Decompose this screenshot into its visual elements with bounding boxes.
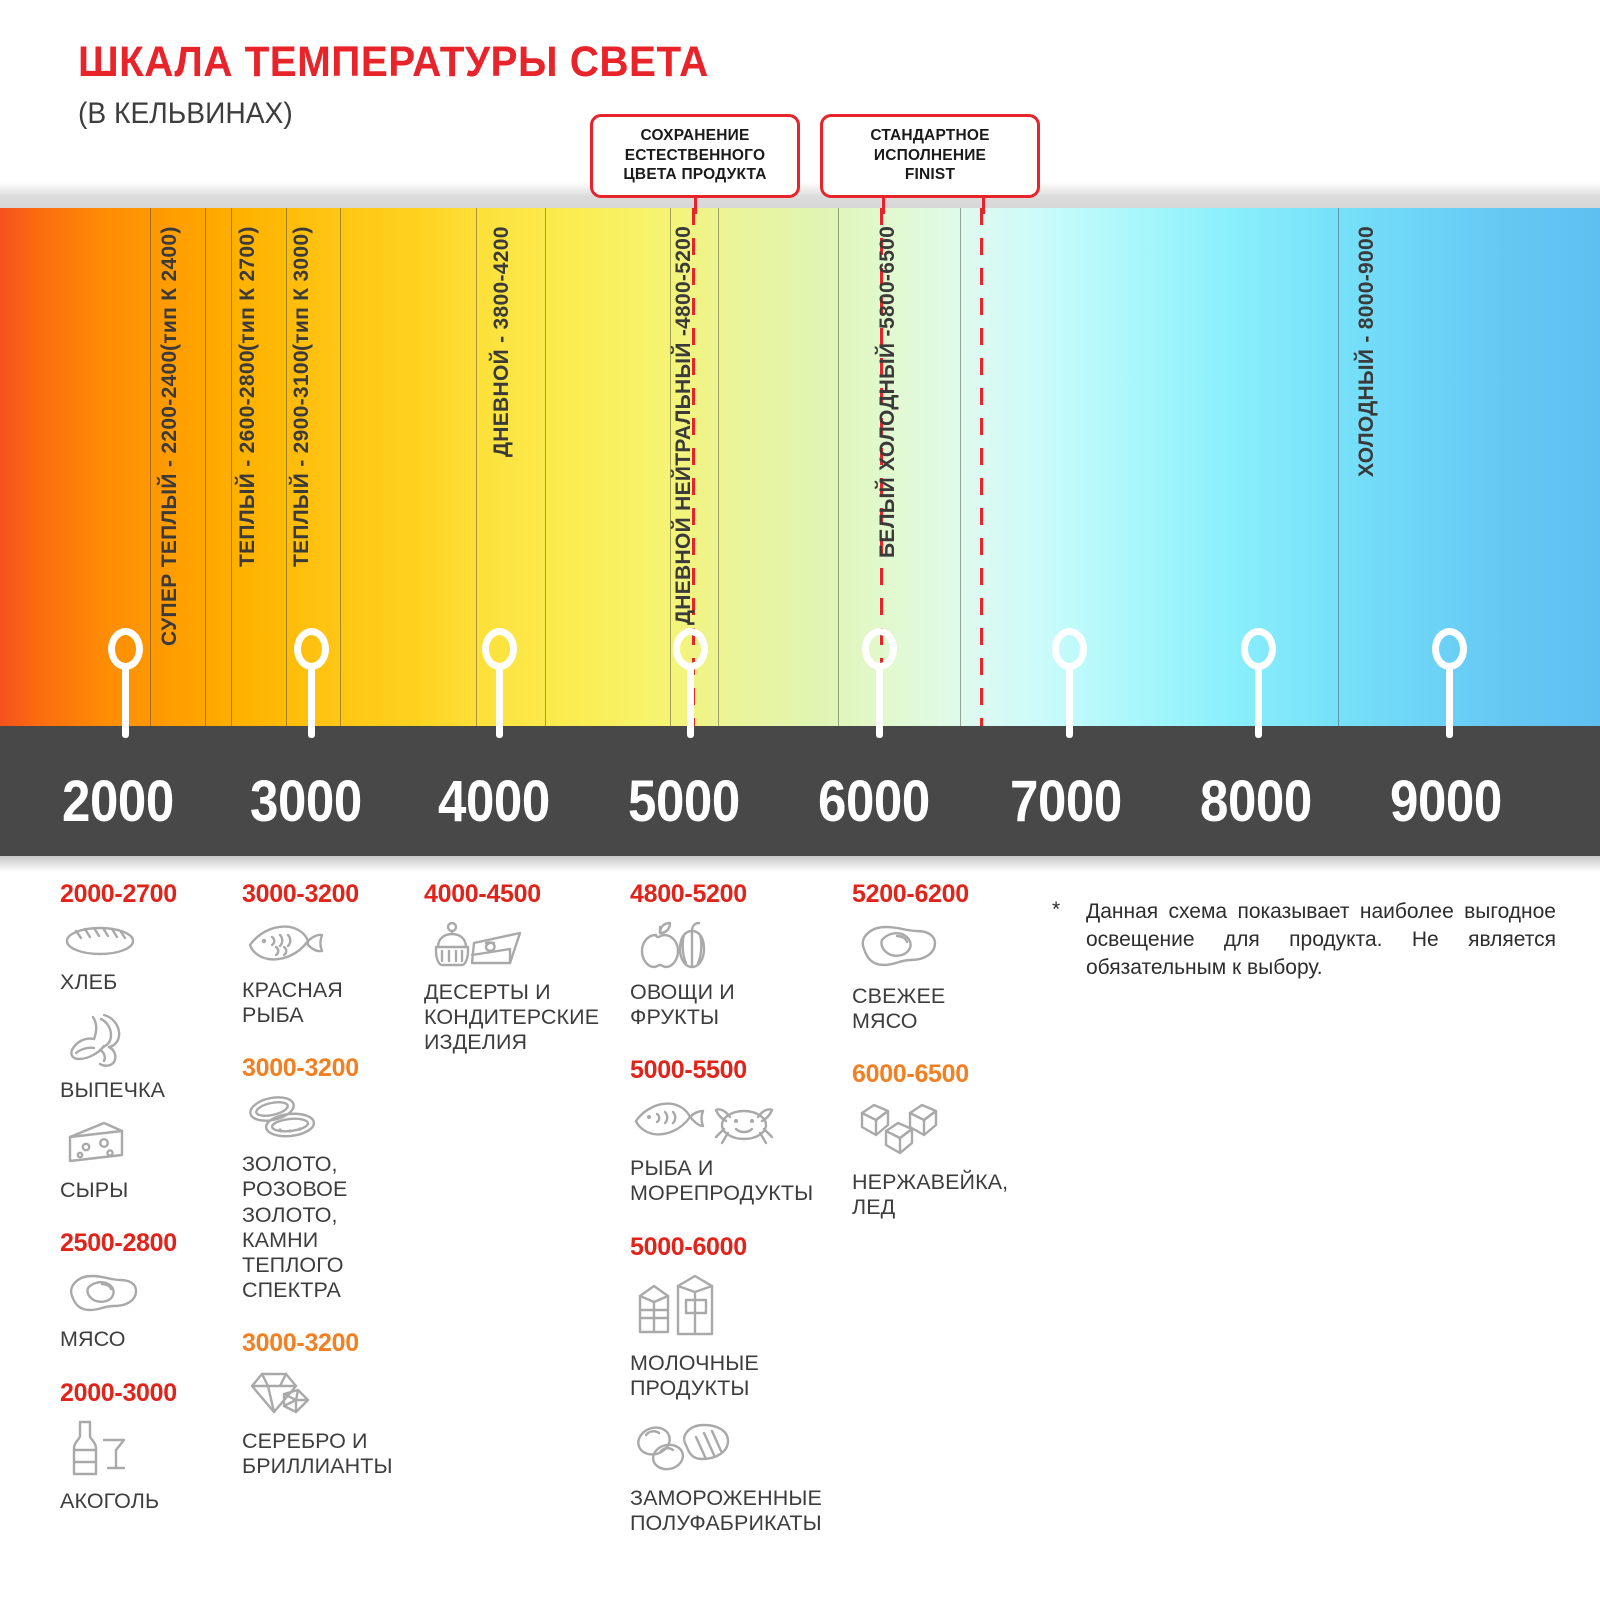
scale-top-shadow — [0, 182, 1600, 208]
legend-item-label: НЕРЖАВЕЙКА, ЛЕД — [852, 1170, 1052, 1220]
band-label-2: ТЕПЛЫЙ - 2900-3100(тип К 3000) — [290, 226, 316, 634]
legend-group: 3000-3200ЗОЛОТО, РОЗОВОЕ ЗОЛОТО, КАМНИ Т… — [242, 1054, 422, 1303]
alcohol-bottle-glass-icon — [64, 1418, 230, 1483]
band-label-sub: (тип К 2400) — [158, 226, 182, 351]
pin-stem — [496, 666, 503, 738]
band-divider — [340, 208, 341, 726]
axis-strip-shadow — [0, 856, 1600, 872]
band-divider — [150, 208, 151, 726]
legend-item: АКОГОЛЬ — [60, 1418, 230, 1514]
band-label-1: ТЕПЛЫЙ - 2600-2800(тип К 2700) — [236, 226, 262, 634]
legend-range: 4000-4500 — [424, 880, 624, 909]
band-label-4: ДНЕВНОЙ НЕЙТРАЛЬНЫЙ -4800-5200 — [672, 226, 698, 634]
band-label-main: ХОЛОДНЫЙ - 8000-9000 — [1355, 226, 1379, 477]
legend-item: МЯСО — [60, 1268, 230, 1352]
band-label-main: БЕЛЫЙ ХОЛОДНЫЙ - — [876, 329, 902, 558]
legend-column-3: 4000-4500ДЕСЕРТЫ И КОНДИТЕРСКИЕ ИЗДЕЛИЯ — [424, 880, 624, 1081]
legend-column-2: 3000-3200КРАСНАЯ РЫБА3000-3200ЗОЛОТО, РО… — [242, 880, 422, 1505]
legend-group: 4800-5200ОВОЩИ И ФРУКТЫ — [630, 880, 845, 1030]
callout-finist-standard: СТАНДАРТНОЕИСПОЛНЕНИЕFINIST — [820, 114, 1040, 198]
legend-range: 2000-2700 — [60, 880, 230, 909]
axis-tick-label-8000: 8000 — [1200, 768, 1312, 835]
band-label-sub: 5800-6500 — [876, 226, 900, 329]
legend-item: ВЫПЕЧКА — [60, 1009, 230, 1103]
pin-stem — [687, 666, 694, 738]
axis-tick-label-7000: 7000 — [1010, 768, 1122, 835]
axis-tick-label-4000: 4000 — [438, 768, 550, 835]
band-label-sub: 4800-5200 — [672, 226, 696, 329]
band-label-main: ДНЕВНОЙ - 3800-4200 — [490, 226, 514, 457]
cheese-icon — [64, 1117, 230, 1172]
legend-item: ЗАМОРОЖЕННЫЕ ПОЛУФАБРИКАТЫ — [630, 1415, 845, 1536]
ice-cubes-icon — [856, 1099, 1052, 1164]
pin-ring-icon — [294, 628, 329, 670]
band-label-sub: (тип К 3000) — [290, 226, 314, 351]
legend-item: МОЛОЧНЫЕ ПРОДУКТЫ — [630, 1272, 845, 1401]
pin-ring-icon — [1241, 628, 1276, 670]
pin-stem — [1446, 666, 1453, 738]
legend-item-label: ДЕСЕРТЫ И КОНДИТЕРСКИЕ ИЗДЕЛИЯ — [424, 980, 624, 1055]
legend-item-label: РЫБА И МОРЕПРОДУКТЫ — [630, 1156, 845, 1206]
pin-stem — [876, 666, 883, 738]
legend-column-1: 2000-2700ХЛЕБВЫПЕЧКАСЫРЫ2500-2800МЯСО200… — [60, 880, 230, 1540]
band-divider — [718, 208, 719, 726]
fruits-vegetables-icon — [634, 919, 845, 974]
legend-item-label: ВЫПЕЧКА — [60, 1078, 230, 1103]
legend-item-label: МОЛОЧНЫЕ ПРОДУКТЫ — [630, 1351, 845, 1401]
kelvin-gradient-band: СУПЕР ТЕПЛЫЙ - 2200-2400(тип К 2400)ТЕПЛ… — [0, 208, 1600, 726]
legend-range: 2000-3000 — [60, 1379, 230, 1408]
legend-item: ОВОЩИ И ФРУКТЫ — [630, 919, 845, 1030]
legend-range: 4800-5200 — [630, 880, 845, 909]
axis-tick-label-2000: 2000 — [62, 768, 174, 835]
fish-icon — [246, 919, 422, 972]
legend-item-label: ХЛЕБ — [60, 970, 230, 995]
legend-group: 3000-3200КРАСНАЯ РЫБА — [242, 880, 422, 1028]
band-label-0: СУПЕР ТЕПЛЫЙ - 2200-2400(тип К 2400) — [158, 226, 184, 634]
legend-item: РЫБА И МОРЕПРОДУКТЫ — [630, 1095, 845, 1206]
legend-range: 3000-3200 — [242, 1329, 422, 1358]
band-label-main: ДНЕВНОЙ НЕЙТРАЛЬНЫЙ - — [672, 329, 698, 625]
band-label-6: ХОЛОДНЫЙ - 8000-9000 — [1355, 226, 1379, 634]
axis-tick-label-5000: 5000 — [628, 768, 740, 835]
footnote-text: Данная схема показывает наиболее выгодно… — [1086, 898, 1556, 982]
band-label-main: ТЕПЛЫЙ - 2600-2800 — [236, 351, 262, 568]
axis-tick-label-3000: 3000 — [250, 768, 362, 835]
legend-group: 2000-2700ХЛЕБВЫПЕЧКАСЫРЫ — [60, 880, 230, 1203]
legend-group: 5000-6000МОЛОЧНЫЕ ПРОДУКТЫЗАМОРОЖЕННЫЕ П… — [630, 1233, 845, 1537]
pin-stem — [308, 666, 315, 738]
gold-rings-icon — [246, 1093, 422, 1146]
legend-item: ХЛЕБ — [60, 919, 230, 995]
legend-range: 6000-6500 — [852, 1060, 1052, 1089]
pin-ring-icon — [673, 628, 708, 670]
legend-range: 5000-5500 — [630, 1056, 845, 1085]
legend-item-label: ОВОЩИ И ФРУКТЫ — [630, 980, 845, 1030]
axis-tick-label-9000: 9000 — [1390, 768, 1502, 835]
legend-item: ЗОЛОТО, РОЗОВОЕ ЗОЛОТО, КАМНИ ТЕПЛОГО СП… — [242, 1093, 422, 1303]
red-dashed-marker — [980, 208, 983, 726]
callout-line: СОХРАНЕНИЕ — [607, 126, 783, 146]
band-divider — [231, 208, 232, 726]
legend-item: СЕРЕБРО И БРИЛЛИАНТЫ — [242, 1368, 422, 1479]
legend-range: 3000-3200 — [242, 880, 422, 909]
legend-item-label: СВЕЖЕЕ МЯСО — [852, 984, 1052, 1034]
callout-line: СТАНДАРТНОЕ — [837, 126, 1023, 146]
legend-column-5: 5200-6200СВЕЖЕЕ МЯСО6000-6500НЕРЖАВЕЙКА,… — [852, 880, 1052, 1247]
callout-line: ЕСТЕСТВЕННОГО — [607, 146, 783, 166]
axis-strip — [0, 726, 1600, 856]
band-label-3: ДНЕВНОЙ - 3800-4200 — [490, 226, 514, 634]
legend-item-label: ЗАМОРОЖЕННЫЕ ПОЛУФАБРИКАТЫ — [630, 1486, 845, 1536]
bread-icon — [64, 919, 230, 964]
legend-range: 5000-6000 — [630, 1233, 845, 1262]
legend-group: 5000-5500РЫБА И МОРЕПРОДУКТЫ — [630, 1056, 845, 1206]
callout-natural-color: СОХРАНЕНИЕЕСТЕСТВЕННОГОЦВЕТА ПРОДУКТА — [590, 114, 800, 198]
legend-range: 2500-2800 — [60, 1229, 230, 1258]
legend-item-label: СЫРЫ — [60, 1178, 230, 1203]
band-divider — [286, 208, 287, 726]
steak-icon — [64, 1268, 230, 1321]
legend-group: 5200-6200СВЕЖЕЕ МЯСО — [852, 880, 1052, 1034]
legend-range: 5200-6200 — [852, 880, 1052, 909]
fresh-steak-icon — [856, 919, 1052, 978]
pin-stem — [1066, 666, 1073, 738]
page-subtitle: (В КЕЛЬВИНАХ) — [78, 97, 293, 131]
legend-group: 2000-3000АКОГОЛЬ — [60, 1379, 230, 1514]
legend-group: 2500-2800МЯСО — [60, 1229, 230, 1352]
footnote-star: * — [1052, 898, 1060, 922]
legend-item-label: СЕРЕБРО И БРИЛЛИАНТЫ — [242, 1429, 422, 1479]
legend-item: СВЕЖЕЕ МЯСО — [852, 919, 1052, 1034]
diamond-icon — [246, 1368, 422, 1423]
pin-ring-icon — [1052, 628, 1087, 670]
band-divider — [545, 208, 546, 726]
band-divider — [960, 208, 961, 726]
page-title: ШКАЛА ТЕМПЕРАТУРЫ СВЕТА — [78, 38, 709, 87]
band-divider — [1338, 208, 1339, 726]
legend-item-label: АКОГОЛЬ — [60, 1489, 230, 1514]
legend-group: 6000-6500НЕРЖАВЕЙКА, ЛЕД — [852, 1060, 1052, 1220]
croissant-icon — [64, 1009, 230, 1072]
band-divider — [838, 208, 839, 726]
legend-item: НЕРЖАВЕЙКА, ЛЕД — [852, 1099, 1052, 1220]
legend-item-label: МЯСО — [60, 1327, 230, 1352]
dessert-cake-icon — [428, 919, 624, 974]
pin-ring-icon — [862, 628, 897, 670]
milk-carton-icon — [634, 1272, 845, 1345]
band-divider — [476, 208, 477, 726]
legend-group: 3000-3200СЕРЕБРО И БРИЛЛИАНТЫ — [242, 1329, 422, 1479]
legend-item-label: ЗОЛОТО, РОЗОВОЕ ЗОЛОТО, КАМНИ ТЕПЛОГО СП… — [242, 1152, 422, 1303]
infographic-root: ШКАЛА ТЕМПЕРАТУРЫ СВЕТА (В КЕЛЬВИНАХ) СО… — [0, 0, 1600, 1600]
axis-tick-label-6000: 6000 — [818, 768, 930, 835]
legend-item: ДЕСЕРТЫ И КОНДИТЕРСКИЕ ИЗДЕЛИЯ — [424, 919, 624, 1055]
callout-line: ЦВЕТА ПРОДУКТА — [607, 165, 783, 185]
band-label-5: БЕЛЫЙ ХОЛОДНЫЙ -5800-6500 — [876, 226, 902, 634]
pin-stem — [1255, 666, 1262, 738]
callout-line: ИСПОЛНЕНИЕ — [837, 146, 1023, 166]
callout-line: FINIST — [837, 165, 1023, 185]
fish-crab-icon — [634, 1095, 845, 1150]
band-divider — [205, 208, 206, 726]
legend-group: 4000-4500ДЕСЕРТЫ И КОНДИТЕРСКИЕ ИЗДЕЛИЯ — [424, 880, 624, 1055]
pin-ring-icon — [1432, 628, 1467, 670]
pin-ring-icon — [108, 628, 143, 670]
legend-range: 3000-3200 — [242, 1054, 422, 1083]
legend-item-label: КРАСНАЯ РЫБА — [242, 978, 422, 1028]
pin-stem — [122, 666, 129, 738]
band-label-sub: (тип К 2700) — [236, 226, 260, 351]
band-label-main: СУПЕР ТЕПЛЫЙ - 2200-2400 — [158, 351, 184, 647]
band-label-main: ТЕПЛЫЙ - 2900-3100 — [290, 351, 316, 568]
pin-ring-icon — [482, 628, 517, 670]
frozen-food-icon — [634, 1415, 845, 1480]
legend-item: КРАСНАЯ РЫБА — [242, 919, 422, 1028]
legend-item: СЫРЫ — [60, 1117, 230, 1203]
legend-column-4: 4800-5200ОВОЩИ И ФРУКТЫ5000-5500РЫБА И М… — [630, 880, 845, 1562]
